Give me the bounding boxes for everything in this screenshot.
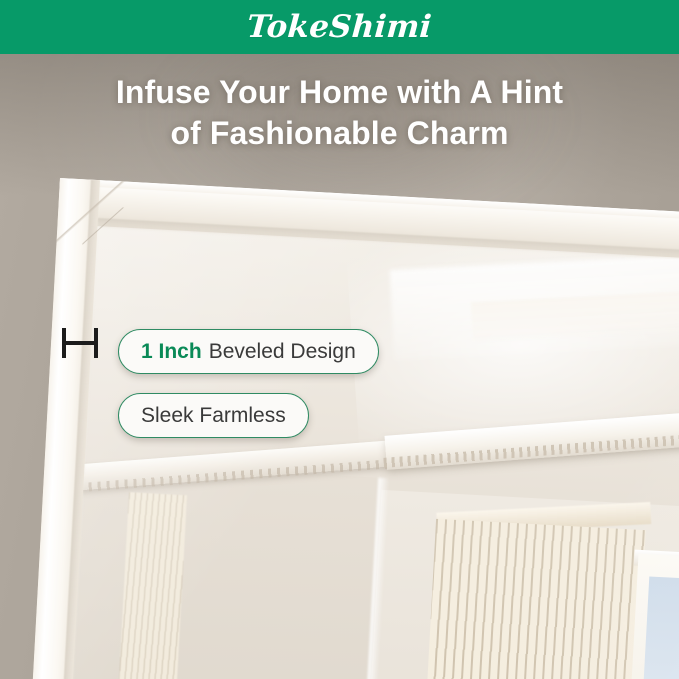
badge-beveled-design[interactable]: 1 Inch Beveled Design: [118, 329, 379, 374]
feature-badge-row-1: 1 Inch Beveled Design: [118, 329, 379, 374]
badge-sleek-farmless[interactable]: Sleek Farmless: [118, 393, 309, 438]
badge-label-text: Beveled Design: [209, 340, 356, 364]
width-caliper-icon: [61, 326, 99, 360]
badge-accent-text: 1 Inch: [141, 340, 202, 364]
headline-line-1: Infuse Your Home with A Hint: [116, 74, 563, 110]
page-title: Infuse Your Home with A Hint of Fashiona…: [0, 72, 679, 154]
headline-line-2: of Fashionable Charm: [0, 113, 679, 154]
brand-header: TokeShimi: [0, 0, 679, 54]
feature-badge-row-2: Sleek Farmless: [118, 393, 379, 438]
product-banner: TokeShimi Infuse Your Home with A Hint o…: [0, 0, 679, 679]
brand-logo: TokeShimi: [246, 12, 433, 43]
frame-miter-joint-inner: [82, 205, 124, 247]
badge-label-text: Sleek Farmless: [141, 404, 286, 428]
feature-badge-list: 1 Inch Beveled Design Sleek Farmless: [118, 329, 379, 457]
